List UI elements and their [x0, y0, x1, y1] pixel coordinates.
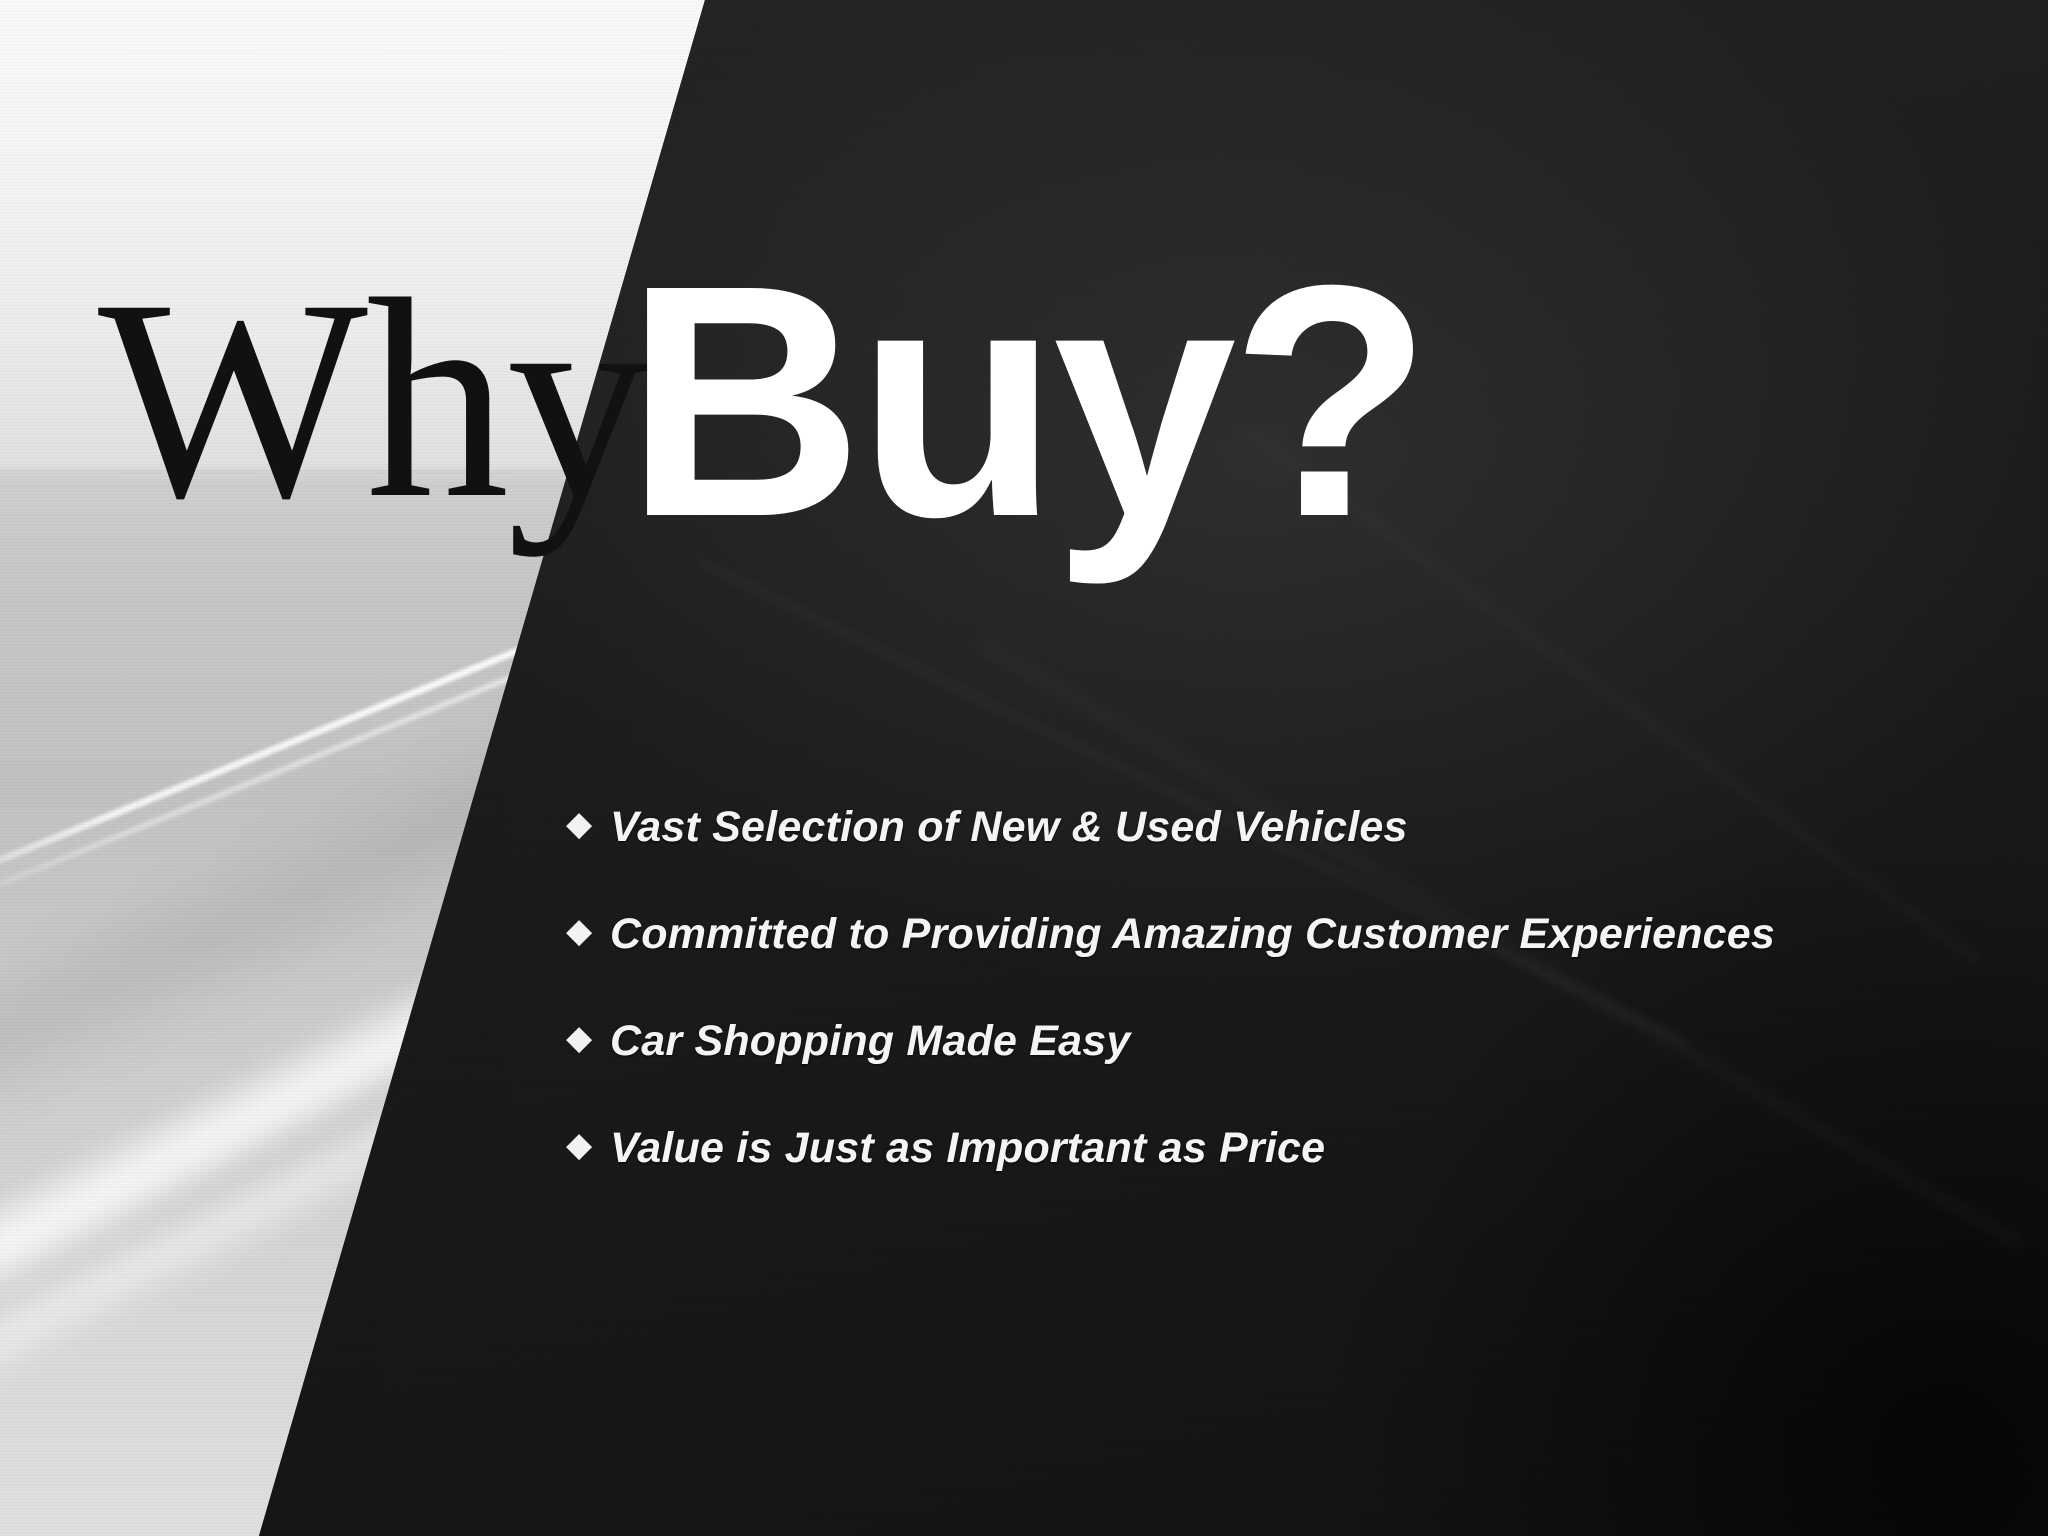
- list-item: ◆ Committed to Providing Amazing Custome…: [566, 913, 1986, 1020]
- diamond-bullet-icon: ◆: [566, 914, 610, 948]
- bullet-label: Car Shopping Made Easy: [610, 1020, 1131, 1063]
- diamond-bullet-icon: ◆: [566, 1021, 610, 1055]
- bullet-list: ◆ Vast Selection of New & Used Vehicles …: [566, 806, 1986, 1234]
- list-item: ◆ Car Shopping Made Easy: [566, 1020, 1986, 1127]
- slide-canvas: Why Buy? ◆ Vast Selection of New & Used …: [0, 0, 2048, 1536]
- diamond-bullet-icon: ◆: [566, 807, 610, 841]
- list-item: ◆ Value is Just as Important as Price: [566, 1127, 1986, 1234]
- bullet-label: Committed to Providing Amazing Customer …: [610, 913, 1775, 956]
- bullet-label: Value is Just as Important as Price: [610, 1127, 1325, 1170]
- diamond-bullet-icon: ◆: [566, 1128, 610, 1162]
- bullet-label: Vast Selection of New & Used Vehicles: [610, 806, 1408, 849]
- list-item: ◆ Vast Selection of New & Used Vehicles: [566, 806, 1986, 913]
